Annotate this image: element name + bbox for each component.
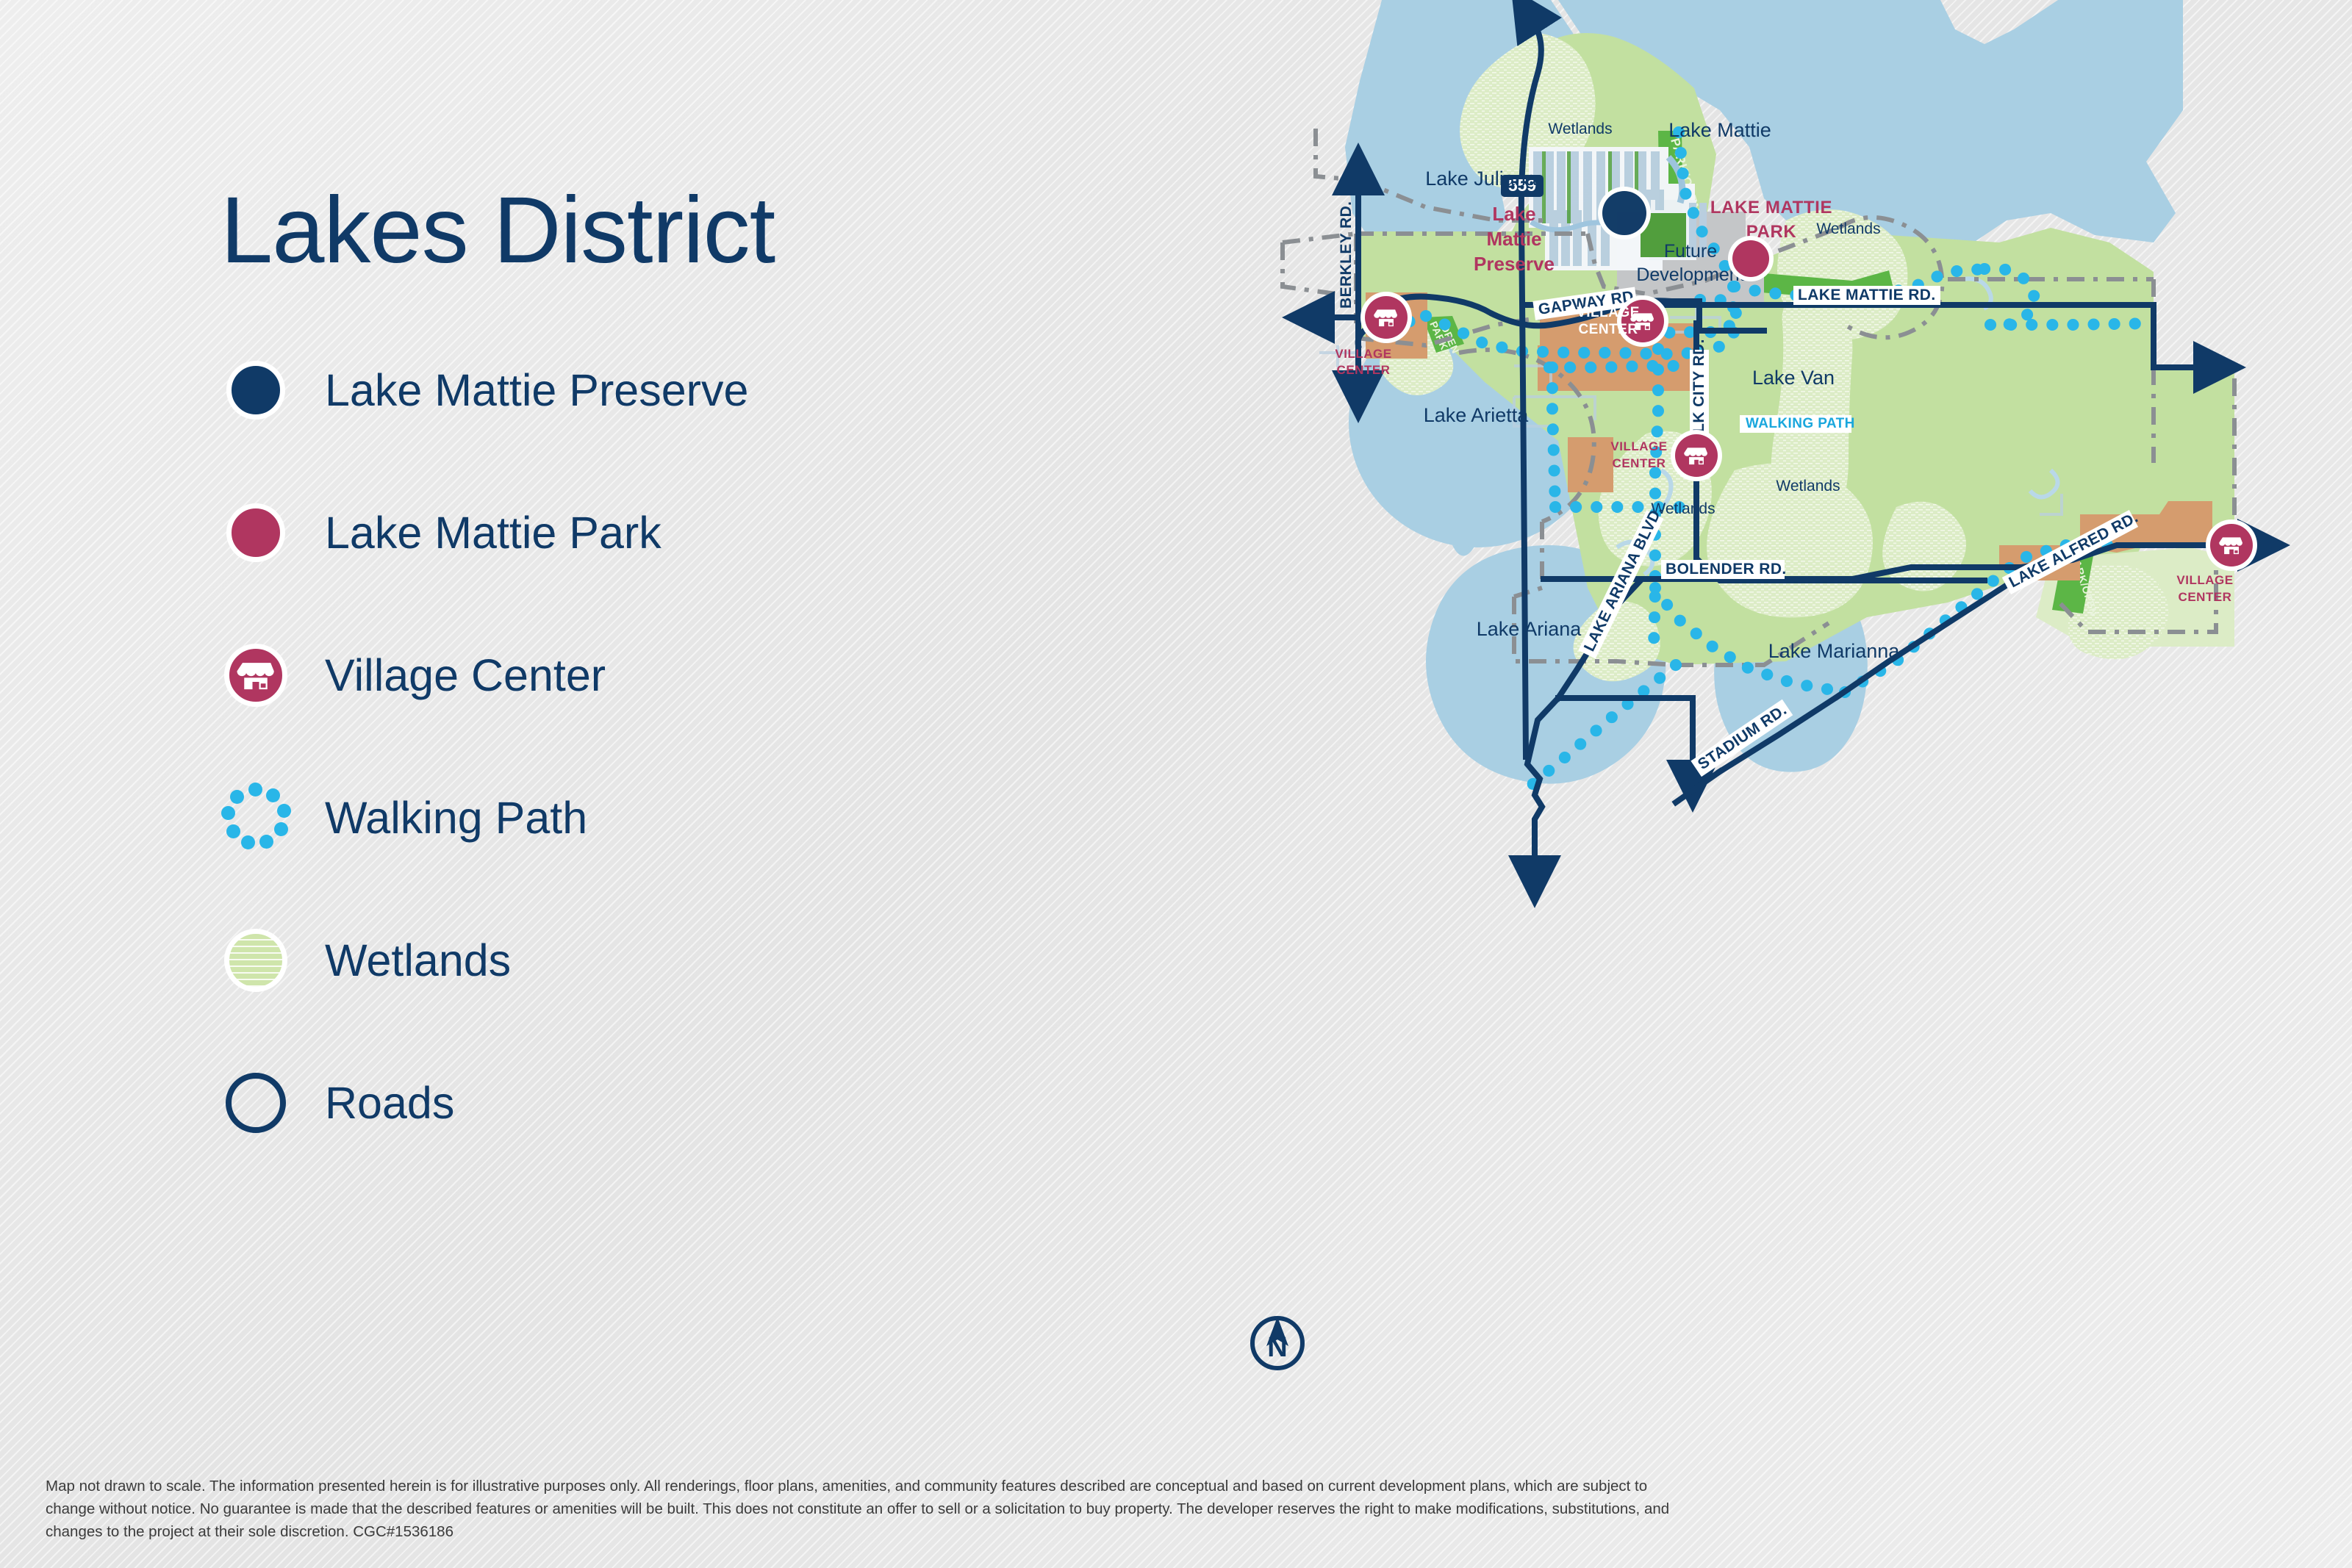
wetland-label-2: Wetlands bbox=[1816, 220, 1880, 237]
area-label-future-line1: Future bbox=[1664, 241, 1717, 262]
preserve-marker-icon bbox=[220, 355, 291, 425]
lake-label-van: Lake Van bbox=[1752, 367, 1835, 389]
lake-label-arietta: Lake Arietta bbox=[1424, 404, 1530, 426]
walking-path-label: WALKING PATH bbox=[1746, 416, 1855, 431]
area-label-preserve-line2: Mattie bbox=[1486, 228, 1541, 250]
legend-item-label: Lake Mattie Preserve bbox=[325, 364, 748, 416]
area-label-preserve-line1: Lake bbox=[1492, 203, 1535, 225]
legend-list: Lake Mattie Preserve Lake Mattie Park bbox=[220, 355, 1176, 1138]
legend-item-label: Wetlands bbox=[325, 935, 511, 986]
road-stadium-ext bbox=[1676, 772, 1720, 802]
village-center-marker-gapway[interactable] bbox=[1617, 295, 1668, 347]
storefront-icon bbox=[220, 640, 291, 711]
road-label-bolender: BOLENDER RD. bbox=[1666, 561, 1787, 578]
hatched-circle-icon bbox=[220, 925, 291, 996]
lake-label-mattie: Lake Mattie bbox=[1668, 119, 1771, 141]
area-label-future-line2: Development bbox=[1636, 265, 1744, 285]
legend-item-label: Lake Mattie Park bbox=[325, 507, 661, 558]
legend-item-label: Village Center bbox=[325, 650, 606, 701]
village-center-label-3: VILLAGE bbox=[1610, 439, 1667, 453]
page-title: Lakes District bbox=[220, 184, 1176, 278]
road-label-lake-mattie: LAKE MATTIE RD. bbox=[1798, 287, 1936, 303]
outline-circle-icon bbox=[220, 1068, 291, 1138]
legend-item-label: Walking Path bbox=[325, 792, 587, 844]
compass-rose: N bbox=[1252, 1317, 1302, 1368]
legend-item-label: Roads bbox=[325, 1077, 454, 1129]
area-label-preserve-line3: Preserve bbox=[1474, 253, 1555, 275]
legend-item-walking-path[interactable]: Walking Path bbox=[220, 783, 1176, 853]
village-center-marker-polkcity[interactable] bbox=[1671, 430, 1722, 481]
village-center-label-2: VILLAGE bbox=[1577, 305, 1640, 320]
legend-item-village-center[interactable]: Village Center bbox=[220, 640, 1176, 711]
village-center-label-1b: CENTER bbox=[1337, 363, 1391, 377]
dotted-ring-icon bbox=[220, 783, 291, 853]
village-center-label-4b: CENTER bbox=[2179, 590, 2232, 604]
area-label-park-line1: LAKE MATTIE bbox=[1710, 198, 1832, 217]
lake-mattie-park-marker[interactable] bbox=[1728, 236, 1774, 281]
legend-panel: Lakes District Lake Mattie Preserve Lake… bbox=[220, 184, 1176, 1138]
lake-label-juliana: Lake Juliana bbox=[1425, 168, 1538, 190]
legend-item-lake-mattie-preserve[interactable]: Lake Mattie Preserve bbox=[220, 355, 1176, 425]
map-illustration[interactable]: PARK/OPEN SPACE PARK/ OPEN PARK/OPEN bbox=[1205, 0, 2352, 1514]
wetland-label-3: Wetlands bbox=[1776, 478, 1840, 495]
village-center-label-3b: CENTER bbox=[1613, 456, 1666, 470]
village-center-label-1: VILLAGE bbox=[1335, 347, 1391, 361]
village-center-label-4: VILLAGE bbox=[2176, 573, 2233, 587]
village-center-marker-berkley[interactable] bbox=[1360, 292, 1412, 343]
wetland-label-4: Wetlands bbox=[1651, 500, 1715, 517]
lake-label-ariana: Lake Ariana bbox=[1477, 618, 1582, 640]
lake-label-marianna: Lake Marianna bbox=[1768, 640, 1901, 662]
park-marker-icon bbox=[220, 497, 291, 568]
wetland-label-1: Wetlands bbox=[1548, 121, 1612, 137]
legend-item-lake-mattie-park[interactable]: Lake Mattie Park bbox=[220, 497, 1176, 568]
road-label-berkley: BERKLEY RD. bbox=[1338, 201, 1355, 309]
legend-item-roads[interactable]: Roads bbox=[220, 1068, 1176, 1138]
village-center-marker-lakealfred[interactable] bbox=[2206, 519, 2257, 571]
walking-path-label-group: WALKING PATH bbox=[1740, 415, 1855, 433]
village-center-label-2b: CENTER bbox=[1578, 322, 1638, 337]
legend-item-wetlands[interactable]: Wetlands bbox=[220, 925, 1176, 996]
compass-north-label: N bbox=[1267, 1332, 1287, 1363]
